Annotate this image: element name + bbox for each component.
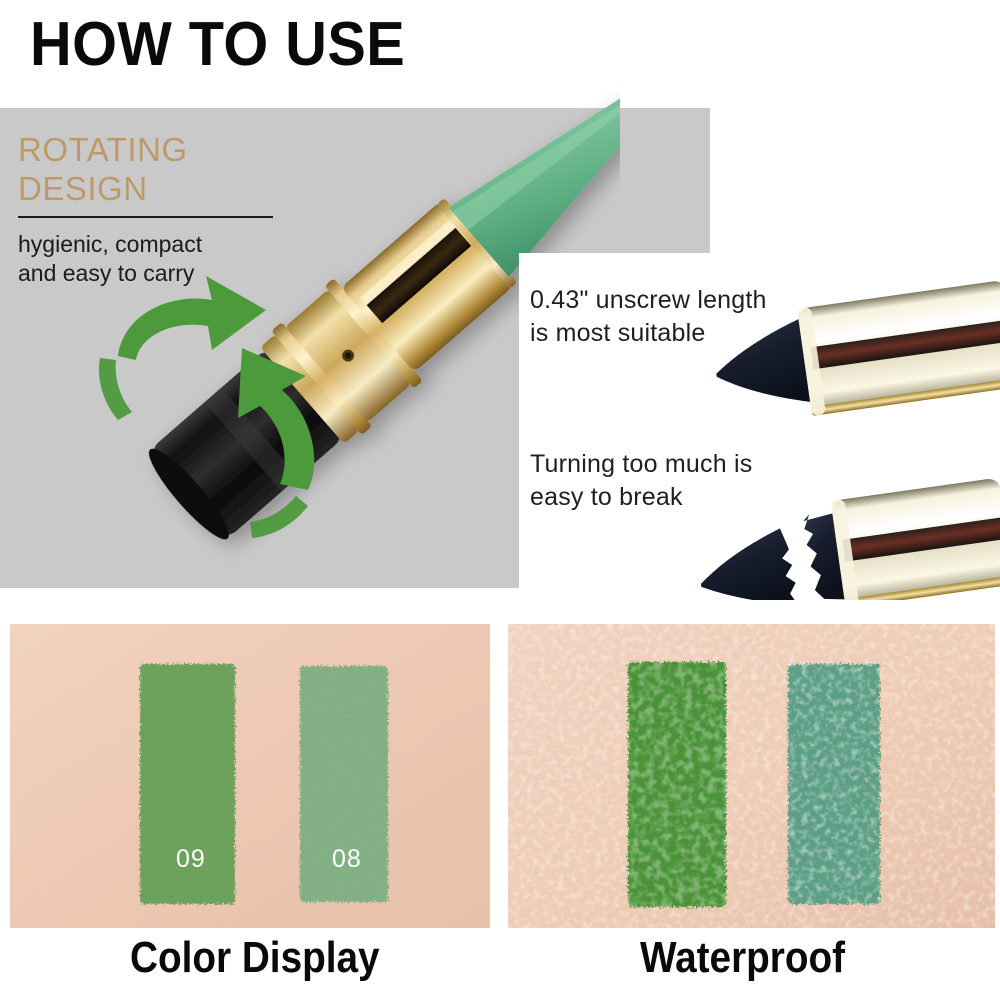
- waterproof-panel: [508, 624, 995, 928]
- gray-panel-lower: [0, 255, 519, 588]
- rotating-design-subtext: hygienic, compact and easy to carry: [18, 230, 202, 288]
- page-title: HOW TO USE: [30, 14, 405, 76]
- callout-turning-too-much: Turning too much is easy to break: [530, 448, 752, 514]
- color-display-panel: 09 08: [10, 624, 490, 928]
- color-display-label: Color Display: [130, 932, 380, 984]
- rotating-design-heading: ROTATING DESIGN: [18, 130, 188, 208]
- heading-divider: [18, 216, 273, 218]
- skin-background-wet: [508, 624, 995, 928]
- waterproof-label: Waterproof: [640, 932, 845, 984]
- skin-background-dry: [10, 624, 490, 928]
- infographic-root: HOW TO USE: [0, 0, 1000, 1000]
- callout-unscrew-length: 0.43" unscrew length is most suitable: [530, 284, 767, 350]
- swatch-number-09: 09: [176, 847, 206, 872]
- swatch-number-08: 08: [332, 847, 362, 872]
